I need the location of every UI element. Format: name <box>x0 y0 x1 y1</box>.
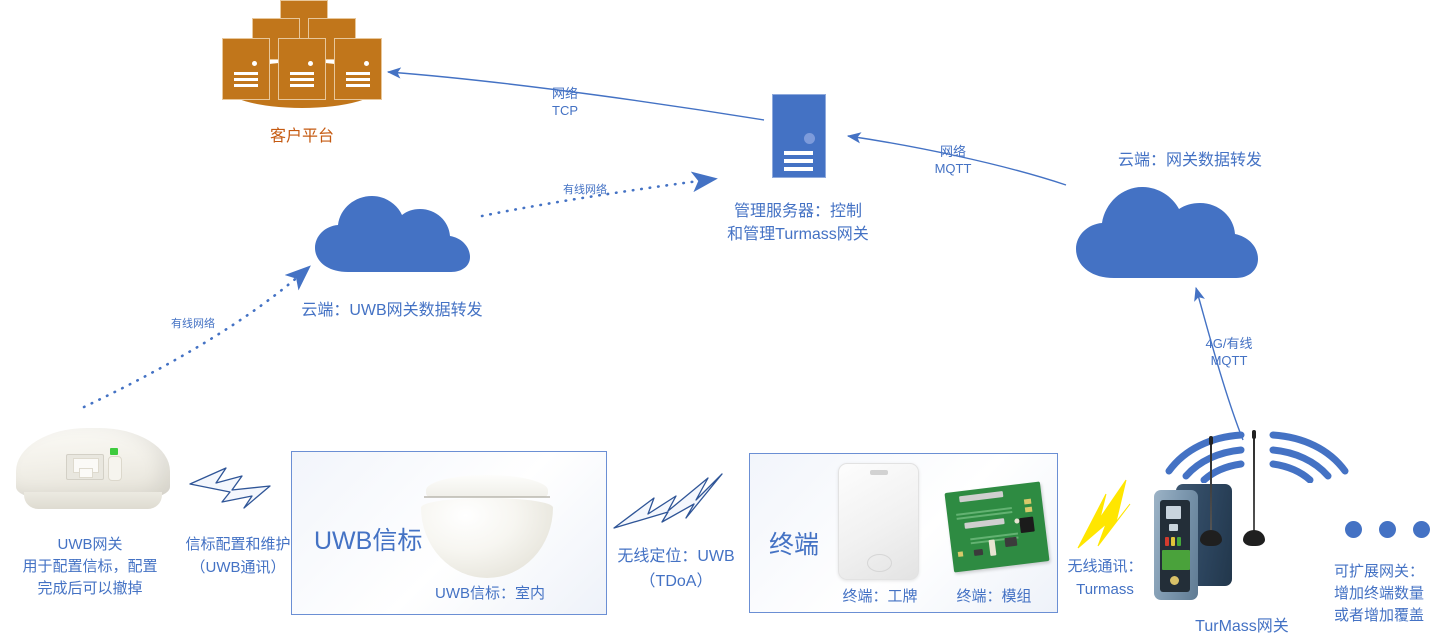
diagram-canvas: 客户平台 管理服务器：控制 和管理Turmass网关 云端：UWB网关数据转发 … <box>0 0 1434 643</box>
uwb-beacon-device-icon <box>420 475 554 579</box>
server-stack-icon <box>222 0 382 110</box>
edge-label-turmass-wireless: 无线通讯： Turmass <box>1058 556 1152 601</box>
cloud-uwb-label: 云端：UWB网关数据转发 <box>272 300 512 322</box>
uwb-gateway-device-icon <box>14 428 172 516</box>
turmass-gateway-device-icon <box>1152 480 1282 616</box>
edge-label-uwb-tdoa: 无线定位：UWB （TDoA） <box>606 545 746 595</box>
signal-arcs-right-icon <box>1269 431 1349 483</box>
terminal-badge-caption: 终端：工牌 <box>828 585 932 606</box>
edge-label-wired-network-lower: 有线网络 <box>148 317 238 331</box>
terminal-badge-icon <box>838 463 919 580</box>
uwb-beacon-panel-title: UWB信标 <box>314 521 422 557</box>
mgmt-server-label: 管理服务器：控制 和管理Turmass网关 <box>678 200 918 246</box>
expandable-gateway-label: 可扩展网关： 增加终端数量 或者增加覆盖 <box>1334 561 1434 626</box>
turmass-gateway-label: TurMass网关 <box>1142 616 1342 638</box>
customer-platform-label: 客户平台 <box>222 126 382 148</box>
terminal-panel-title: 终端 <box>769 525 819 561</box>
edge-label-network-mqtt: 网络 MQTT <box>916 144 990 178</box>
edge-label-beacon-config: 信标配置和维护 （UWB通讯） <box>176 534 300 579</box>
edge-uwbgw-to-cloud <box>84 268 308 407</box>
cloud-uwb-icon <box>312 192 472 280</box>
edge-label-wired-network-upper: 有线网络 <box>540 183 630 197</box>
terminal-module-pcb-icon <box>944 481 1049 572</box>
lightning-uwb-config-icon <box>186 466 290 522</box>
edge-label-4g-mqtt: 4G/有线 MQTT <box>1188 336 1270 370</box>
signal-arcs-left-icon <box>1165 431 1245 483</box>
terminal-module-caption: 终端：模组 <box>938 585 1050 606</box>
ellipsis-dots-icon <box>1345 521 1430 538</box>
uwb-beacon-caption: UWB信标：室内 <box>405 582 575 603</box>
cloud-gateway-icon <box>1072 182 1262 286</box>
lightning-uwb-tdoa-icon <box>612 470 730 532</box>
mgmt-server-icon <box>772 94 826 178</box>
uwb-gateway-label: UWB网关 用于配置信标，配置 完成后可以撤掉 <box>0 534 180 599</box>
lightning-turmass-icon <box>1076 478 1138 550</box>
cloud-gateway-label: 云端：网关数据转发 <box>1070 150 1310 172</box>
edge-label-network-tcp: 网络 TCP <box>528 86 602 120</box>
